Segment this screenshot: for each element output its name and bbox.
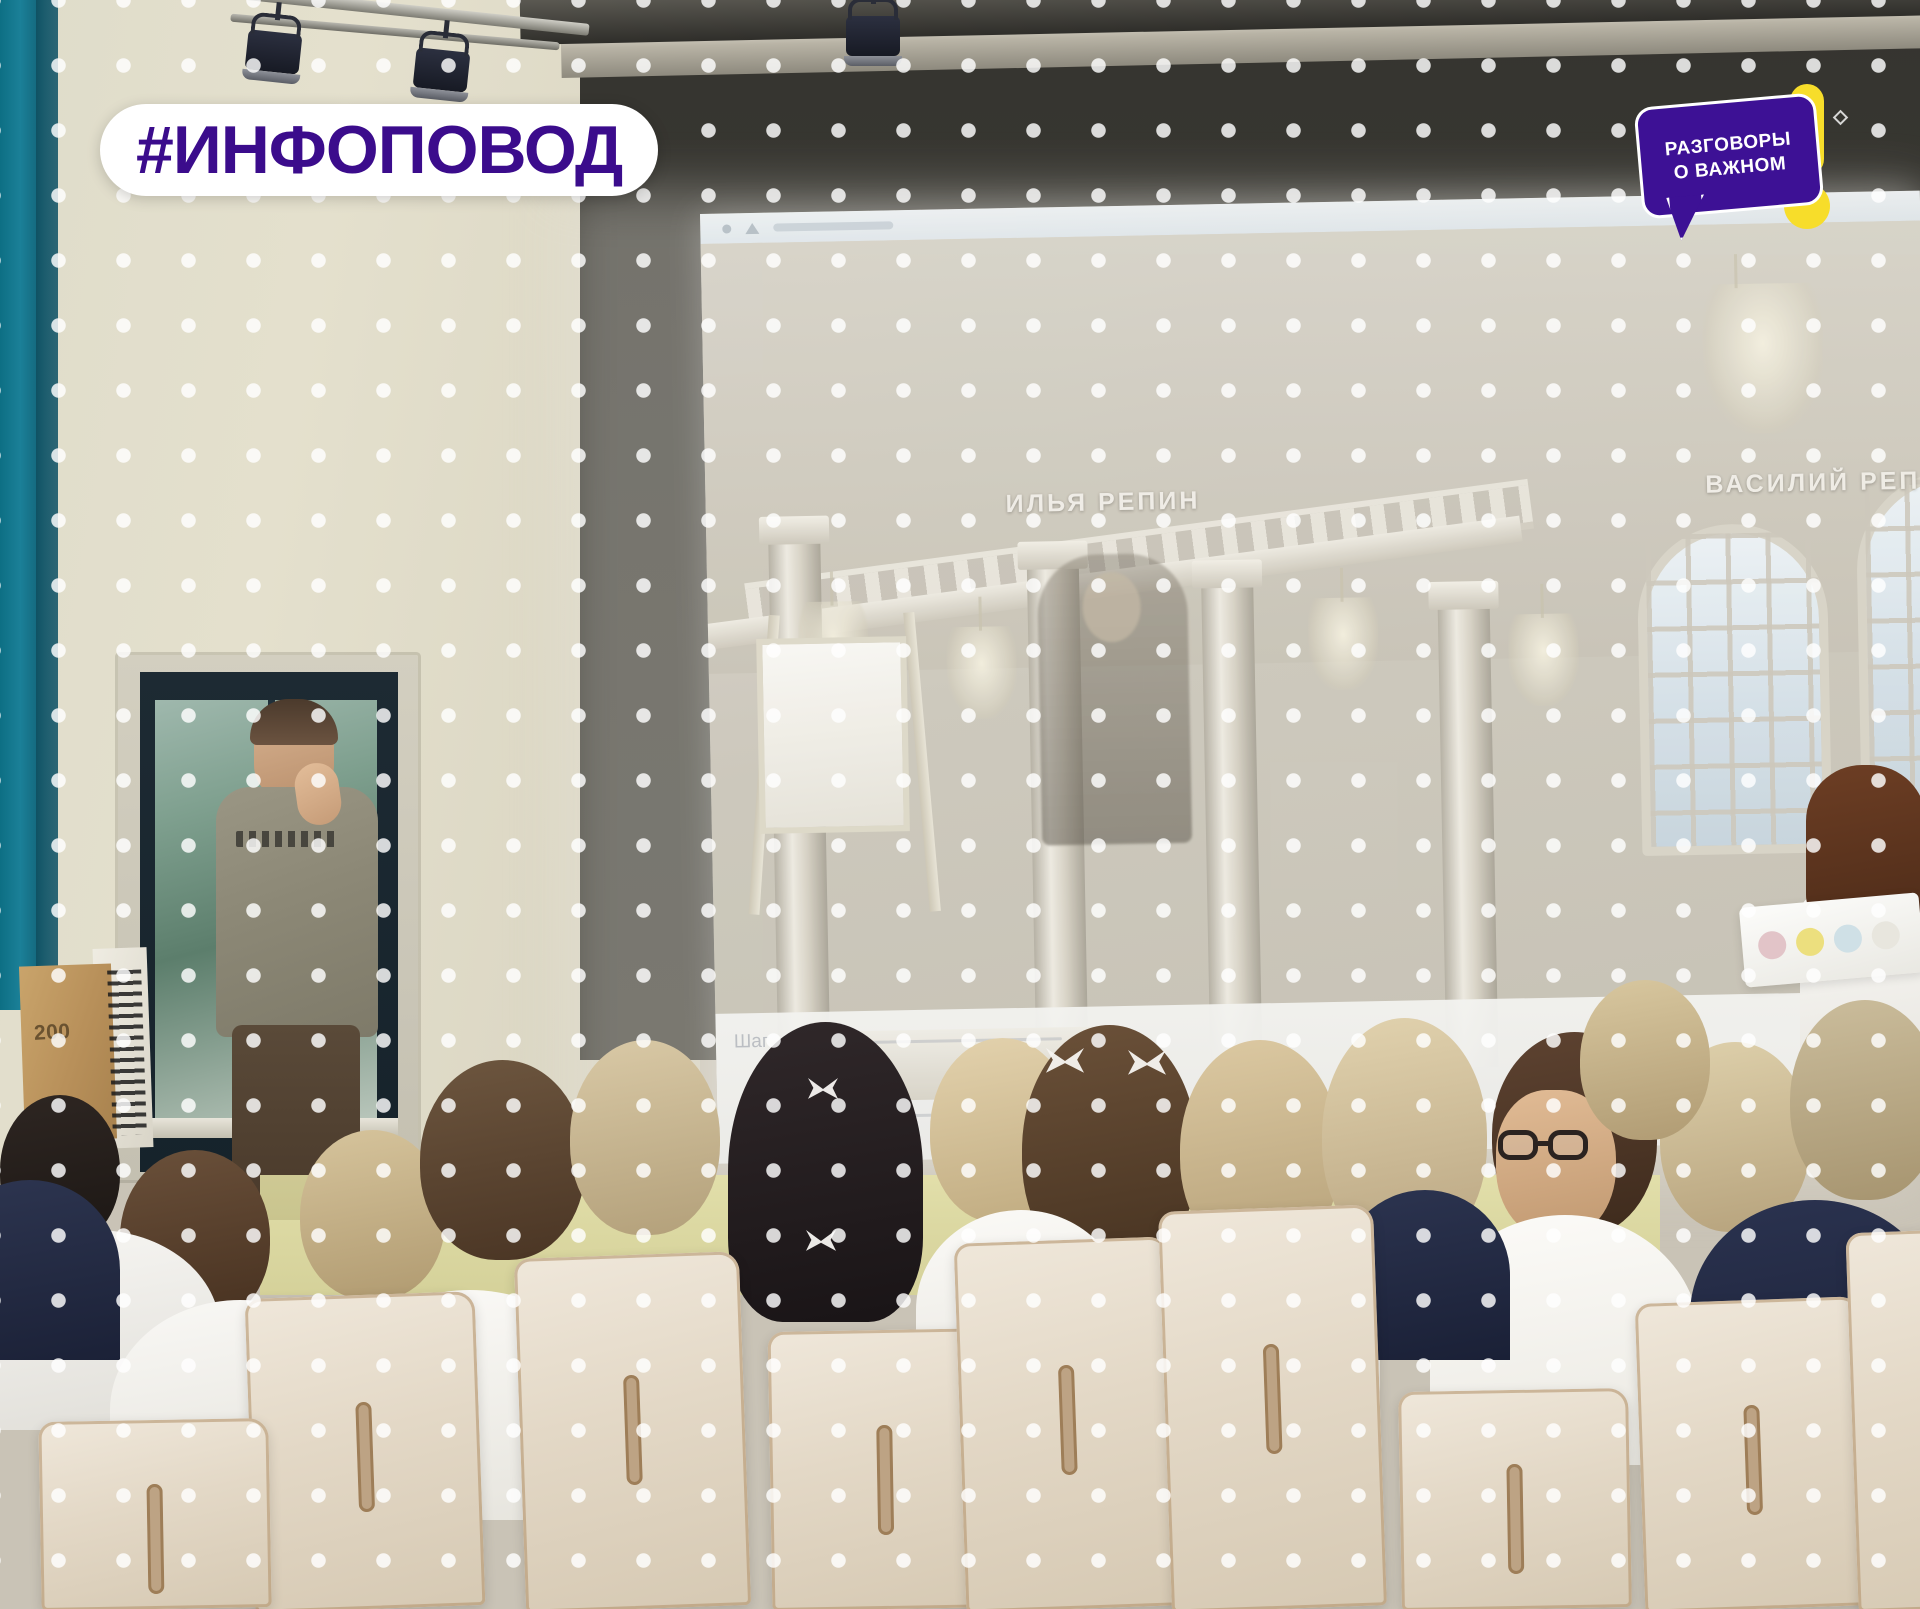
presenter-hoodie (216, 787, 378, 1037)
stage-light-3 (846, 16, 902, 66)
window-muntin-grid (1645, 532, 1823, 847)
chair-handle (1057, 1365, 1077, 1475)
program-logo-badge[interactable]: РАЗГОВОРЫ О ВАЖНОМ (1638, 78, 1868, 258)
chandelier-4 (1508, 613, 1580, 706)
chandelier-2 (946, 626, 1018, 719)
paint-pan-white (1871, 920, 1901, 950)
screen-label-ilya-repin: ИЛЬЯ РЕПИН (1005, 486, 1200, 519)
chair-handle (1506, 1464, 1524, 1574)
teal-side-curtain (0, 0, 58, 1010)
watercolour-palette (1739, 892, 1920, 987)
hashtag-badge[interactable]: #ИНФОПОВОД (100, 104, 658, 196)
screen-label-vasily-repin: ВАСИЛИЙ РЕП (1705, 467, 1920, 500)
program-logo-text: РАЗГОВОРЫ О ВАЖНОМ (1633, 92, 1824, 219)
bubble-corner-marker-icon (1833, 110, 1849, 126)
paint-pan-pink (1757, 930, 1787, 960)
auditorium-chair (245, 1291, 486, 1609)
box-label-number: 200 (33, 1018, 104, 1046)
glasses-lens-right (1548, 1130, 1588, 1160)
painter-portrait-ilya-repin (1037, 553, 1193, 846)
audience-head (570, 1040, 720, 1235)
audience-head-butterfly-girl (728, 1022, 923, 1322)
hashtag-badge-label: #ИНФОПОВОД (136, 116, 622, 184)
chair-handle (1262, 1344, 1282, 1454)
auditorium-chair (1635, 1296, 1871, 1609)
auditorium-chair (38, 1418, 271, 1609)
chair-handle (355, 1402, 375, 1512)
footer-step-label: Шаг (734, 1031, 769, 1054)
paint-pan-blue (1833, 923, 1863, 953)
eyeglasses-icon (1498, 1130, 1594, 1160)
presenter-hair (250, 699, 338, 745)
home-icon (745, 222, 759, 233)
projected-museum-gallery: ИЛЬЯ РЕПИН ВАСИЛИЙ РЕП Шаг 2. Выбери (701, 221, 1920, 1164)
auditorium-chair (1398, 1388, 1632, 1609)
chandelier-large (1702, 282, 1825, 434)
chair-handle (876, 1425, 894, 1535)
portrait-head (1082, 572, 1141, 643)
chair-handle (623, 1375, 643, 1485)
paint-pan-yellow (1795, 927, 1825, 957)
chair-handle (146, 1484, 164, 1594)
chandelier-3 (1307, 597, 1379, 690)
audience-head (420, 1060, 585, 1260)
browser-dot-icon (722, 224, 731, 233)
box-barcode (107, 969, 147, 1135)
auditorium-chair (1845, 1227, 1920, 1609)
screenshot-canvas: 200 (0, 0, 1920, 1609)
presenter-hoodie-lettering (236, 831, 340, 847)
auditorium-chair (514, 1251, 751, 1609)
audience-head (1580, 980, 1710, 1140)
auditorium-chair (1158, 1204, 1387, 1609)
stage-light-1 (244, 29, 305, 85)
address-bar (773, 221, 893, 231)
glasses-lens-left (1498, 1130, 1538, 1160)
projection-screen: ИЛЬЯ РЕПИН ВАСИЛИЙ РЕП Шаг 2. Выбери (700, 191, 1920, 1164)
chair-handle (1743, 1405, 1763, 1515)
auditorium-chair (954, 1236, 1182, 1609)
easel-canvas (756, 636, 910, 834)
stage-light-2 (412, 47, 473, 103)
gallery-column-3 (1201, 585, 1262, 1066)
